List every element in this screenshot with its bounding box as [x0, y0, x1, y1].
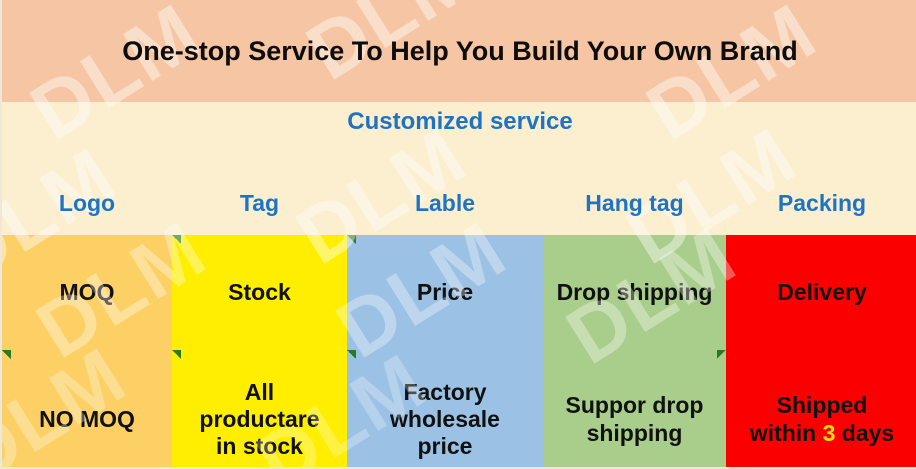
column-detail: All productare in stock: [172, 350, 347, 469]
detail-line: wholesale: [390, 406, 500, 433]
column-detail: Factory wholesale price: [347, 350, 543, 469]
column-header-packing: Packing: [726, 183, 916, 223]
service-column-hang-tag: Drop shipping Suppor drop shipping: [543, 235, 726, 469]
detail-line: productare: [199, 406, 319, 433]
column-heading: Drop shipping: [543, 235, 726, 350]
column-heading: MOQ: [2, 235, 172, 350]
corner-tick-icon: [172, 350, 181, 359]
column-heading-text: Drop shipping: [557, 280, 713, 305]
corner-tick-icon: [347, 350, 356, 359]
detail-line: within 3 days: [750, 420, 894, 447]
column-detail: Suppor drop shipping: [543, 350, 726, 469]
corner-tick-icon: [347, 235, 356, 244]
subheader-title: Customized service: [2, 108, 916, 136]
column-detail: Shipped within 3 days: [726, 350, 916, 469]
service-column-logo: MOQ NO MOQ: [2, 235, 172, 469]
corner-tick-icon: [172, 235, 181, 244]
column-header-hang-tag: Hang tag: [543, 183, 726, 223]
column-detail: NO MOQ: [2, 350, 172, 469]
detail-line: All: [199, 379, 319, 406]
service-column-tag: Stock All productare in stock: [172, 235, 347, 469]
column-header-tag: Tag: [172, 183, 347, 223]
corner-tick-icon: [2, 350, 11, 359]
column-header-row: Logo Tag Lable Hang tag Packing: [2, 183, 916, 223]
column-heading: Stock: [172, 235, 347, 350]
promo-banner: MOQ NO MOQ Stock All productare in stock…: [0, 0, 916, 469]
detail-prefix: within: [750, 420, 823, 446]
column-heading: Delivery: [726, 235, 916, 350]
detail-line: Factory: [390, 379, 500, 406]
page-title: One-stop Service To Help You Build Your …: [2, 0, 916, 102]
column-header-logo: Logo: [2, 183, 172, 223]
service-column-lable: Price Factory wholesale price: [347, 235, 543, 469]
corner-tick-icon: [717, 350, 726, 359]
detail-line: price: [390, 433, 500, 460]
detail-highlight: 3: [823, 420, 836, 446]
column-header-lable: Lable: [347, 183, 543, 223]
column-heading: Price: [347, 235, 543, 350]
detail-line: NO MOQ: [39, 406, 135, 432]
detail-line: in stock: [199, 433, 319, 460]
detail-line: Suppor drop: [566, 392, 704, 419]
service-column-packing: Delivery Shipped within 3 days: [726, 235, 916, 469]
service-grid: MOQ NO MOQ Stock All productare in stock…: [2, 235, 916, 469]
detail-suffix: days: [835, 420, 894, 446]
detail-line: Shipped: [750, 392, 894, 419]
detail-line: shipping: [566, 420, 704, 447]
